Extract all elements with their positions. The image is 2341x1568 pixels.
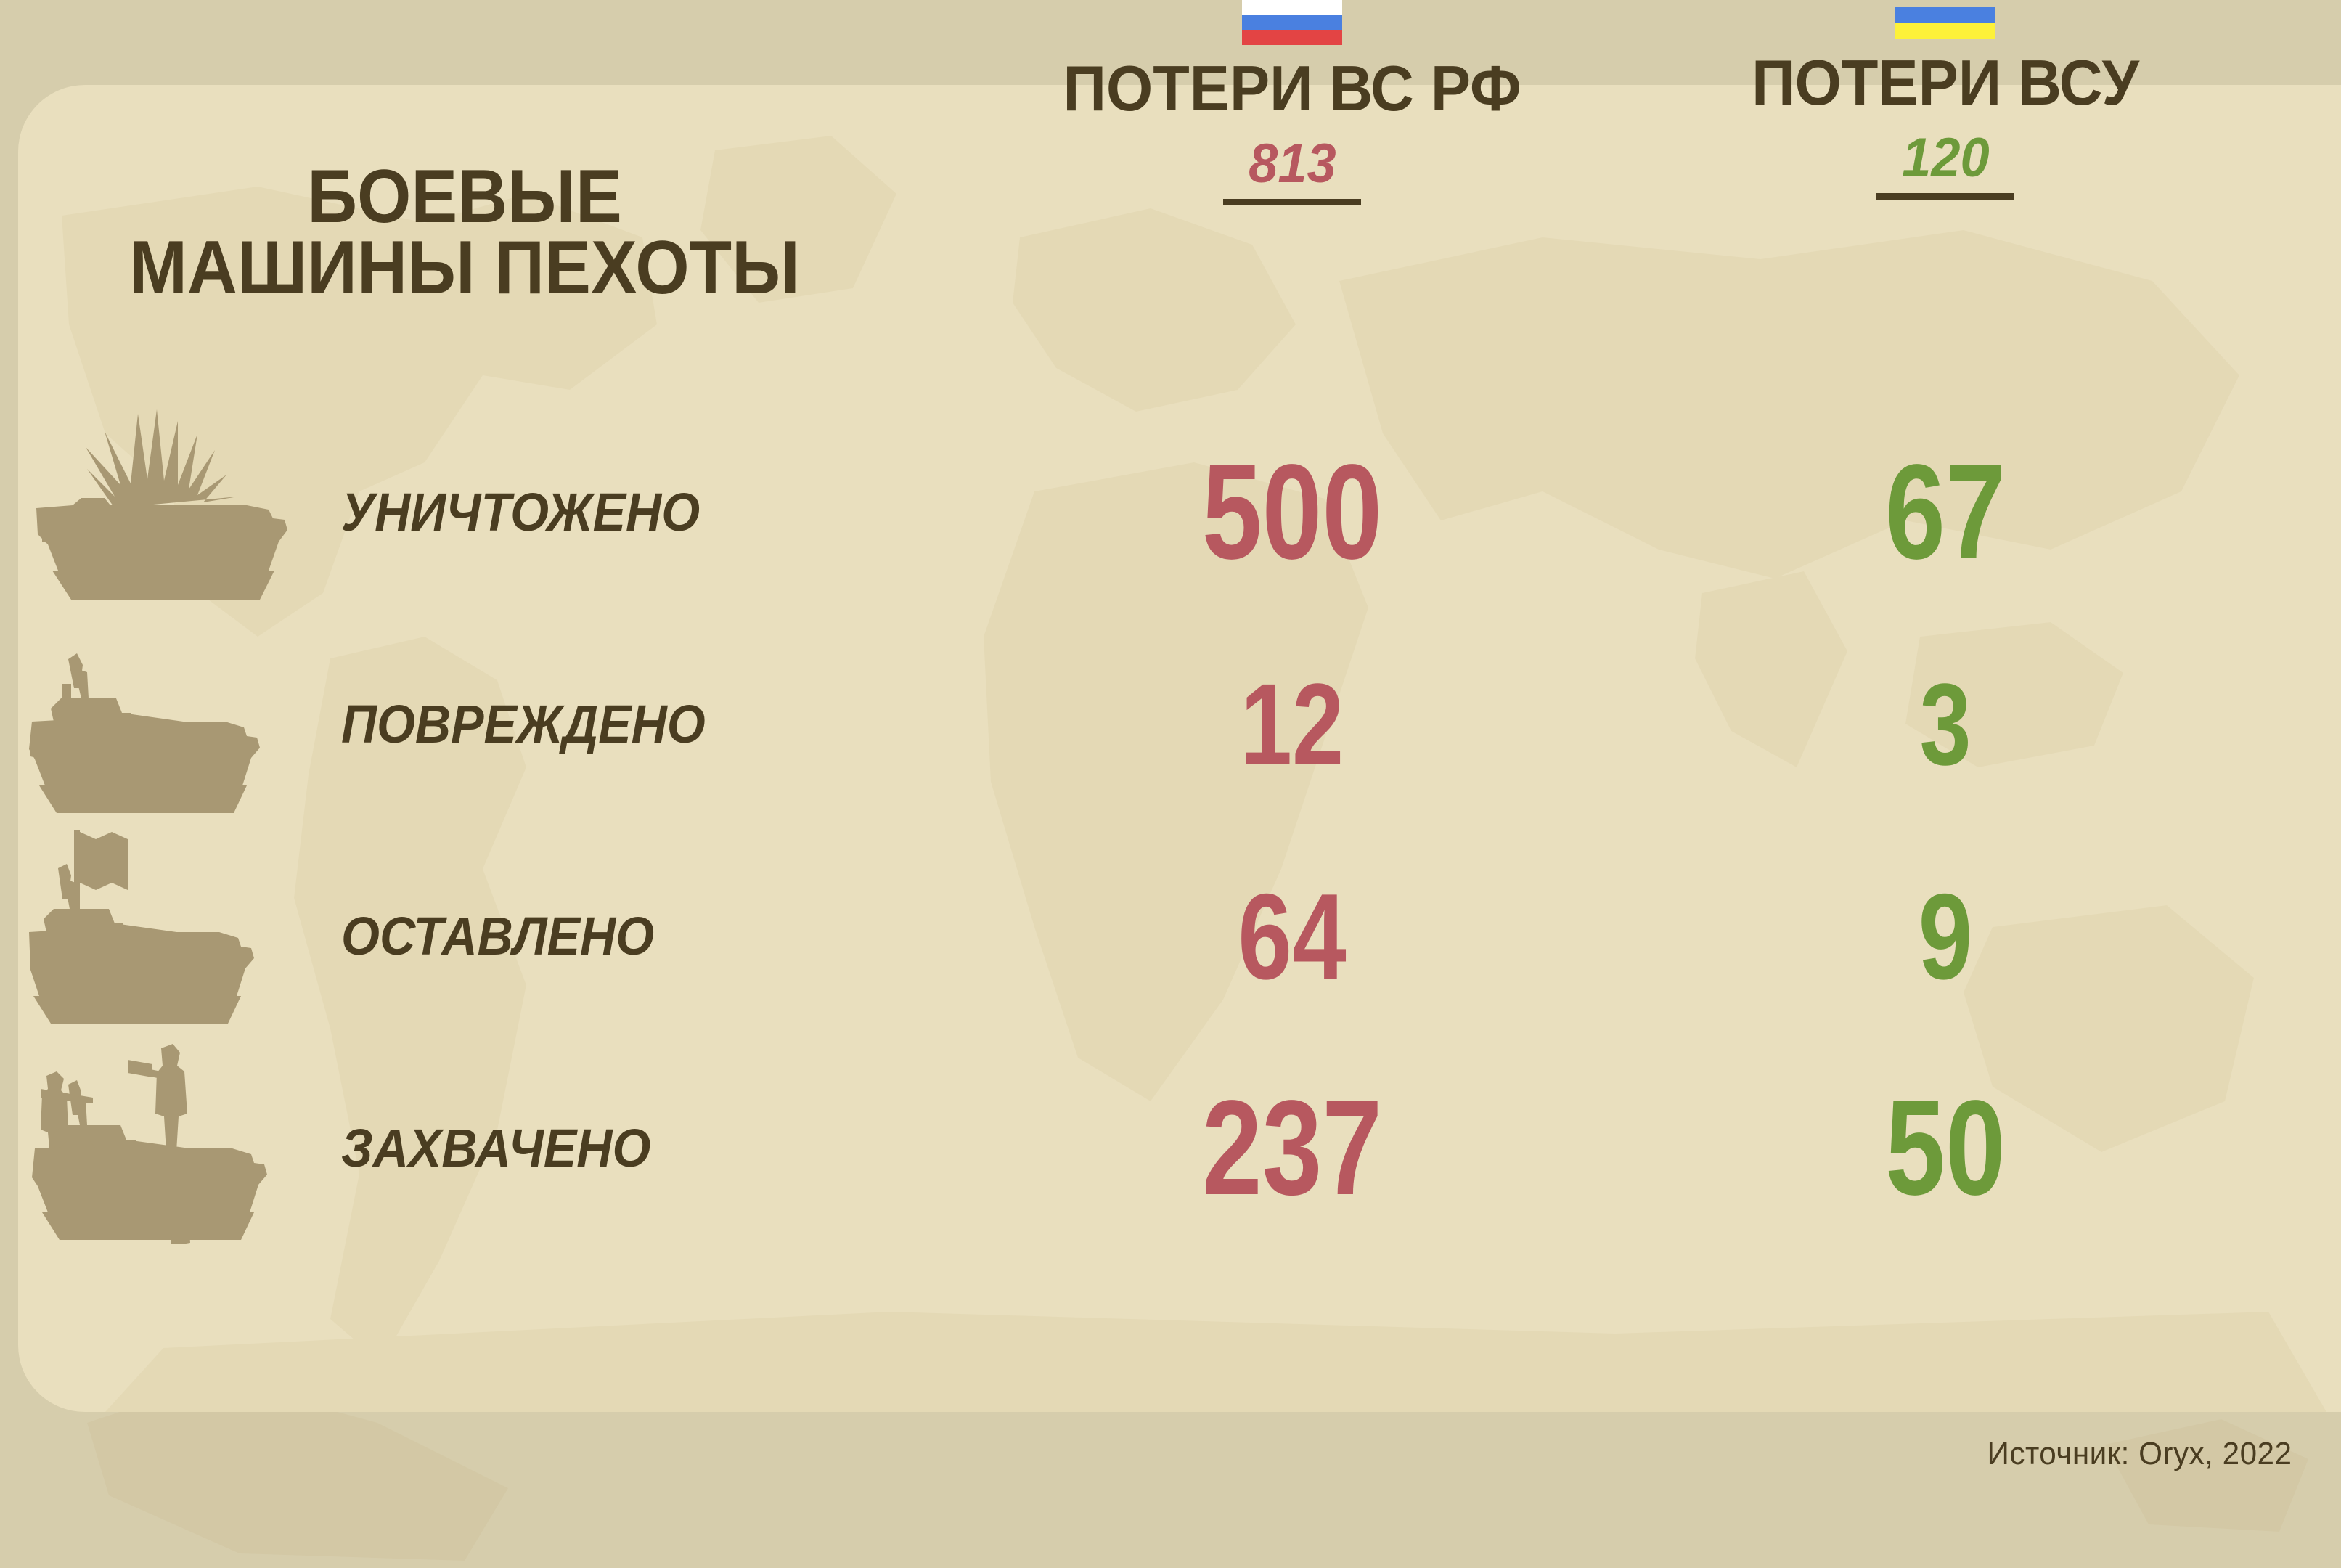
russia-flag-icon — [1242, 0, 1342, 45]
page-title: БОЕВЫЕ МАШИНЫ ПЕХОТЫ — [91, 161, 838, 303]
value-ukraine: 50 — [1684, 1042, 2207, 1254]
row-label: ОСТАВЛЕНО — [341, 830, 654, 1042]
value-ukraine: 67 — [1684, 407, 2207, 618]
infographic-root: БОЕВЫЕ МАШИНЫ ПЕХОТЫ ПОТЕРИ ВС РФ 813 ПО… — [0, 0, 2341, 1568]
column-header-ukraine: ПОТЕРИ ВСУ 120 — [1619, 0, 2272, 200]
total-ukraine: 120 — [1902, 131, 1989, 186]
column-title-russia: ПОТЕРИ ВС РФ — [985, 55, 1599, 122]
table-row: ПОВРЕЖДЕНО 12 3 — [0, 618, 2341, 830]
total-underline-russia — [1223, 199, 1361, 205]
header: БОЕВЫЕ МАШИНЫ ПЕХОТЫ ПОТЕРИ ВС РФ 813 ПО… — [0, 0, 2341, 407]
total-russia: 813 — [1249, 136, 1336, 192]
abandoned-ifv-icon — [29, 830, 341, 1042]
destroyed-ifv-icon — [29, 407, 341, 618]
value-ukraine: 9 — [1684, 830, 2207, 1042]
total-russia-wrap: 813 — [965, 136, 1619, 205]
value-ukraine: 3 — [1684, 618, 2207, 830]
captured-ifv-icon — [29, 1042, 341, 1254]
value-russia: 500 — [1031, 407, 1553, 618]
ukraine-flag-icon — [1895, 7, 1995, 39]
value-russia: 12 — [1031, 618, 1553, 830]
damaged-ifv-icon — [29, 618, 341, 830]
column-header-russia: ПОТЕРИ ВС РФ 813 — [965, 0, 1619, 205]
source-attribution: Источник: Oryx, 2022 — [1987, 1436, 2292, 1472]
row-label: УНИЧТОЖЕНО — [341, 407, 700, 618]
value-russia: 64 — [1031, 830, 1553, 1042]
row-label: ПОВРЕЖДЕНО — [341, 618, 706, 830]
data-rows: УНИЧТОЖЕНО 500 67 — [0, 407, 2341, 1254]
total-ukraine-wrap: 120 — [1619, 131, 2272, 200]
total-underline-ukraine — [1876, 193, 2014, 200]
table-row: ЗАХВАЧЕНО 237 50 — [0, 1042, 2341, 1254]
column-title-ukraine: ПОТЕРИ ВСУ — [1638, 49, 2252, 116]
value-russia: 237 — [1031, 1042, 1553, 1254]
table-row: ОСТАВЛЕНО 64 9 — [0, 830, 2341, 1042]
row-label: ЗАХВАЧЕНО — [341, 1042, 650, 1254]
table-row: УНИЧТОЖЕНО 500 67 — [0, 407, 2341, 618]
